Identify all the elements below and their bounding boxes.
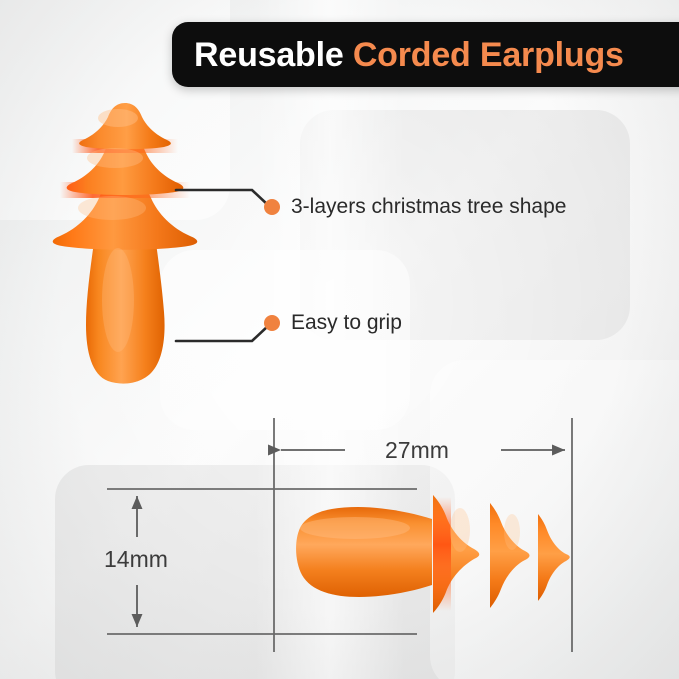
infographic-canvas: Reusable Corded Earplugs xyxy=(0,0,679,679)
earplug-highlight xyxy=(504,514,520,550)
callout-dot[interactable] xyxy=(264,315,280,331)
earplug-highlight xyxy=(300,517,410,539)
callout-label-easy-to-grip: Easy to grip xyxy=(291,312,402,333)
earplug-highlight xyxy=(78,196,146,220)
earplug-shadow-band xyxy=(433,497,451,611)
dimension-label-height: 14mm xyxy=(104,548,168,571)
callout-leader-line xyxy=(176,326,268,341)
artwork-layer xyxy=(0,0,679,679)
callout-label-three-layers: 3-layers christmas tree shape xyxy=(291,196,566,217)
earplug-highlight xyxy=(102,248,134,352)
earplug-flange-3 xyxy=(538,514,570,601)
horizontal-earplug xyxy=(296,495,570,613)
dimension-label-width: 27mm xyxy=(385,439,449,462)
earplug-highlight xyxy=(450,508,470,552)
callout-leader-group xyxy=(176,190,280,341)
earplug-highlight xyxy=(98,109,138,127)
earplug-highlight xyxy=(87,148,143,168)
callout-dot[interactable] xyxy=(264,199,280,215)
